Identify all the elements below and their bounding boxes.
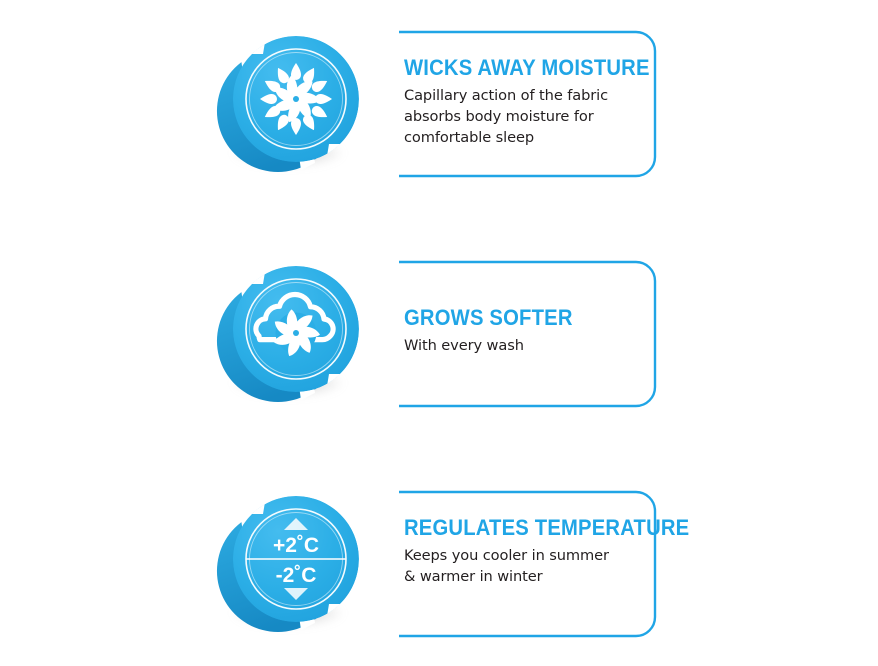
wicks-away-moisture-icon: [214, 26, 374, 191]
feature-heading: REGULATES TEMPERATURE: [404, 516, 621, 539]
badge-front-shape: [233, 36, 359, 162]
feature-text: REGULATES TEMPERATURE Keeps you cooler i…: [404, 516, 640, 588]
feature-text-frame: GROWS SOFTER With every wash: [398, 260, 656, 408]
regulates-temperature-icon: +2˚C -2˚C: [214, 486, 374, 651]
body-line: absorbs body moisture for: [404, 107, 640, 128]
body-line: With every wash: [404, 336, 640, 357]
feature-row: GROWS SOFTER With every wash: [0, 246, 878, 436]
features-infographic: WICKS AWAY MOISTURE Capillary action of …: [0, 0, 878, 663]
body-line: Keeps you cooler in summer: [404, 546, 640, 567]
badge-front-shape: [233, 266, 359, 392]
feature-row: WICKS AWAY MOISTURE Capillary action of …: [0, 16, 878, 206]
feature-text-frame: REGULATES TEMPERATURE Keeps you cooler i…: [398, 490, 656, 638]
feature-text: WICKS AWAY MOISTURE Capillary action of …: [404, 56, 640, 148]
badge-front-layer: [233, 266, 359, 392]
badge-front-layer: [233, 36, 359, 162]
feature-body: Capillary action of the fabric absorbs b…: [404, 86, 640, 148]
feature-text-frame: WICKS AWAY MOISTURE Capillary action of …: [398, 30, 656, 178]
feature-body: Keeps you cooler in summer & warmer in w…: [404, 546, 640, 587]
feature-heading: WICKS AWAY MOISTURE: [404, 56, 621, 79]
temp-up-label: +2˚C: [273, 534, 319, 557]
feature-heading: GROWS SOFTER: [404, 306, 621, 329]
badge-front-layer: +2˚C -2˚C: [233, 496, 359, 622]
feature-body: With every wash: [404, 336, 640, 357]
body-line: comfortable sleep: [404, 128, 640, 149]
temp-down-label: -2˚C: [276, 564, 317, 587]
body-line: Capillary action of the fabric: [404, 86, 640, 107]
body-line: & warmer in winter: [404, 567, 640, 588]
badge-front-shape: +2˚C -2˚C: [233, 496, 359, 622]
grows-softer-icon: [214, 256, 374, 421]
feature-row: +2˚C -2˚C REGULATES TEMPERATURE Keeps yo…: [0, 476, 878, 666]
feature-text: GROWS SOFTER With every wash: [404, 306, 640, 357]
